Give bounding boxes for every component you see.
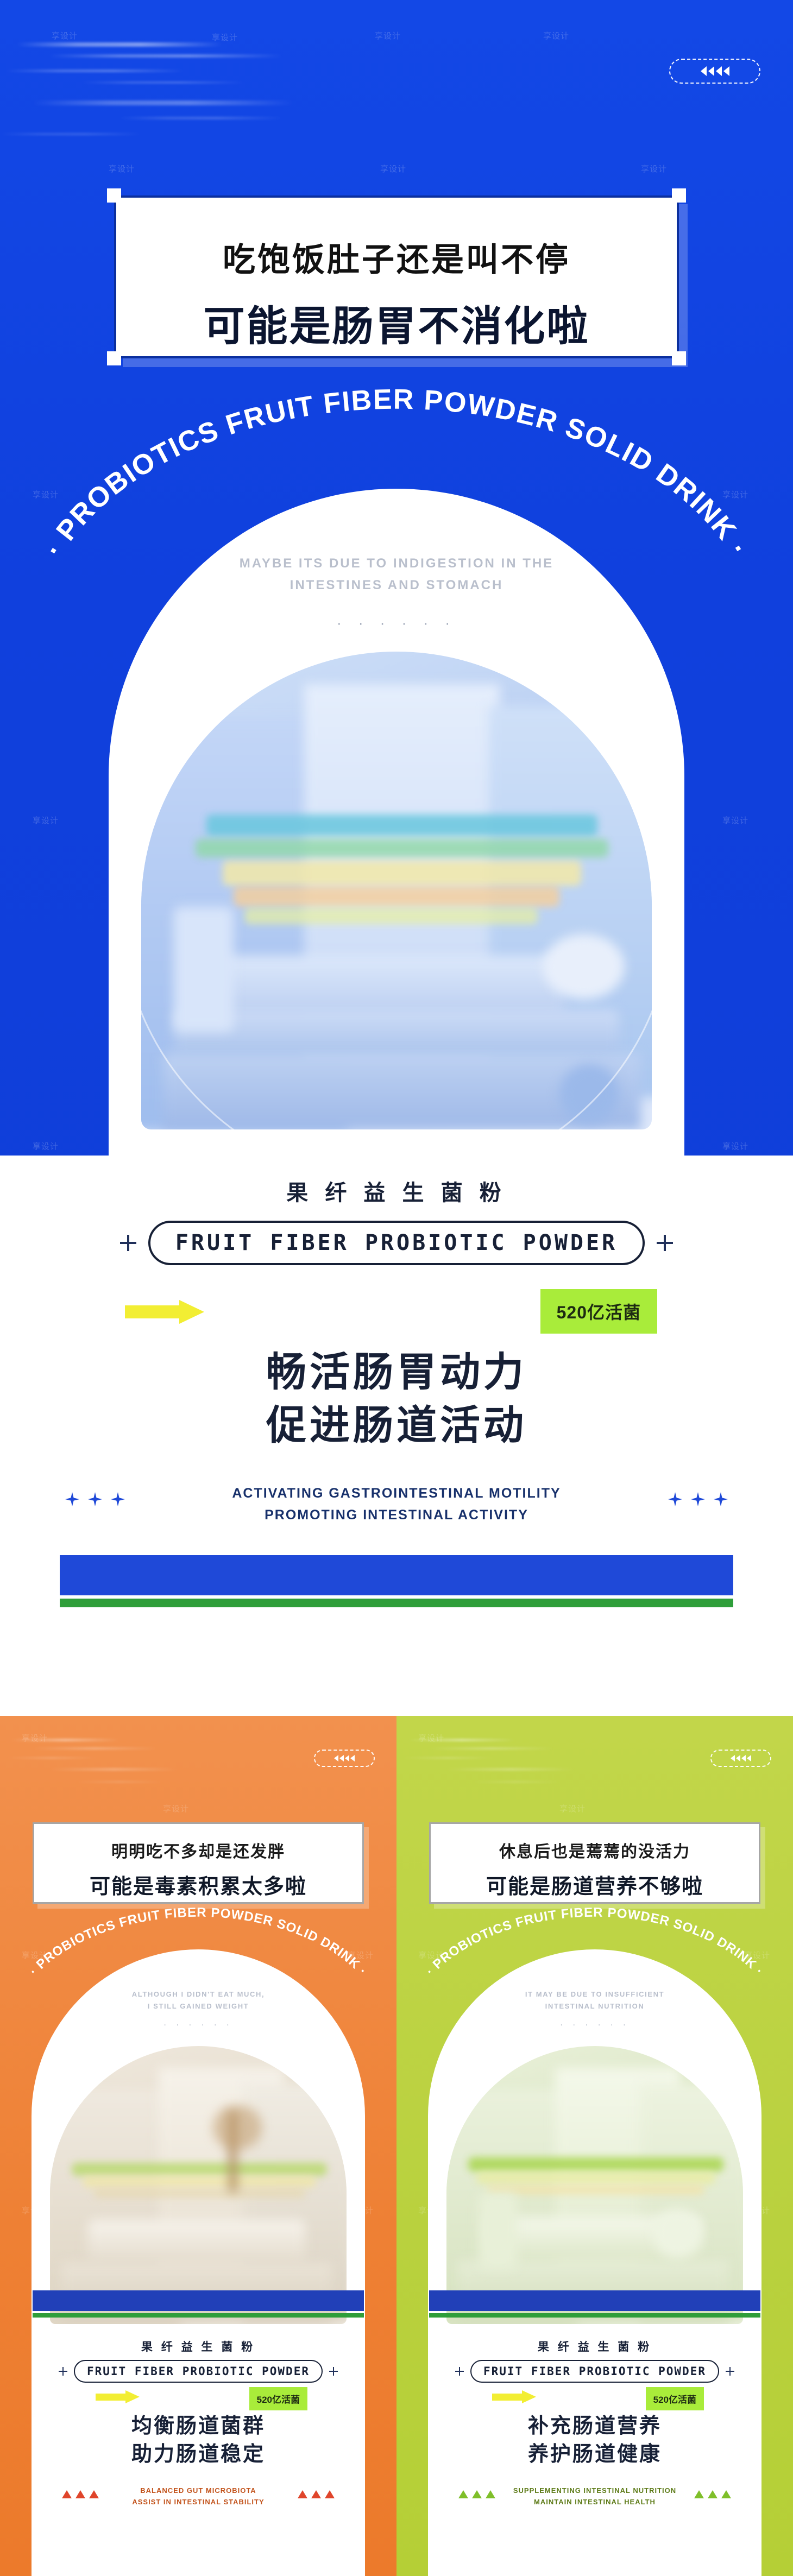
watermark: 享设计 — [418, 1732, 444, 1744]
watermark: 享设计 — [52, 30, 78, 41]
watermark: 享设计 — [375, 30, 401, 41]
english-subtitle: IT MAY BE DUE TO INSUFFICIENT INTESTINAL… — [428, 1988, 761, 2012]
benefit-headline-line-2: 助力肠道稳定 — [131, 2443, 265, 2466]
light-streak — [5, 70, 185, 72]
live-bacteria-badge: 520亿活菌 — [540, 1289, 657, 1334]
white-arch-card: IT MAY BE DUE TO INSUFFICIENT INTESTINAL… — [428, 1949, 761, 2576]
sparkle-icon — [59, 2367, 67, 2376]
benefit-headline: 畅活肠胃动力 促进肠道活动 — [0, 1346, 793, 1452]
english-subtitle-line-1: IT MAY BE DUE TO INSUFFICIENT — [525, 1990, 664, 1998]
watermark: 享设计 — [380, 163, 406, 174]
white-arch-card: ALTHOUGH I DIDN'T EAT MUCH, I STILL GAIN… — [32, 1949, 365, 2576]
light-streak — [445, 1768, 576, 1771]
english-subtitle-line-1: MAYBE ITS DUE TO INDIGESTION IN THE — [240, 556, 553, 571]
light-streak — [0, 133, 141, 135]
headline-line-1: 明明吃不多却是还发胖 — [34, 1838, 362, 1862]
triangles-right — [298, 2490, 335, 2498]
benefit-english-line-1: ACTIVATING GASTROINTESTINAL MOTILITY — [232, 1486, 561, 1501]
headline-line-1: 休息后也是蔫蔫的没活力 — [431, 1838, 759, 1862]
watermark: 享设计 — [641, 163, 667, 174]
footer-bar-green — [60, 1599, 733, 1607]
product-name-en-row: FRUIT FIBER PROBIOTIC POWDER — [0, 1221, 793, 1265]
product-name-en: FRUIT FIBER PROBIOTIC POWDER — [148, 1221, 645, 1265]
triangle-icon — [325, 2490, 335, 2498]
watermark: 享设计 — [163, 1803, 189, 1814]
english-subtitle-line-2: INTESTINAL NUTRITION — [545, 2002, 645, 2010]
benefit-english-line-2: PROMOTING INTESTINAL ACTIVITY — [265, 1507, 528, 1523]
benefit-headline-line-1: 畅活肠胃动力 — [266, 1349, 527, 1394]
watermark: 享设计 — [33, 489, 59, 500]
sparkle-star-icon — [668, 1492, 682, 1506]
arrows-left-icon — [314, 1750, 375, 1767]
product-photo — [50, 2046, 347, 2324]
dots-divider: · · · · · · — [428, 2020, 761, 2029]
benefit-english-line-2: ASSIST IN INTESTINAL STABILITY — [132, 2498, 264, 2506]
headline-box: 休息后也是蔫蔫的没活力 可能是肠道营养不够啦 — [429, 1822, 760, 1904]
arrows-left-icon — [710, 1750, 771, 1767]
product-name-en: FRUIT FIBER PROBIOTIC POWDER — [74, 2360, 323, 2383]
english-subtitle-line-2: I STILL GAINED WEIGHT — [148, 2002, 249, 2010]
triangle-icon — [721, 2490, 731, 2498]
benefit-headline-line-1: 补充肠道营养 — [528, 2415, 662, 2438]
triangles-right — [694, 2490, 731, 2498]
sparkle-star-icon — [691, 1492, 705, 1506]
light-streak — [11, 1739, 119, 1741]
sparkle-star-icon — [714, 1492, 728, 1506]
stars-right — [668, 1492, 728, 1506]
decorative-ring — [119, 630, 674, 1184]
benefit-headline-line-1: 均衡肠道菌群 — [131, 2415, 265, 2438]
panel-secondary-orange: 享设计 享设计 享设计 享设计 享设计 享设计 享设计 明明吃不多却是还发胖 可… — [0, 1716, 396, 2576]
benefit-english-row: SUPPLEMENTING INTESTINAL NUTRITION MAINT… — [428, 2485, 761, 2515]
panel-primary-blue: 享设计 享设计 享设计 享设计 享设计 享设计 享设计 享设计 享设计 享设计 … — [0, 0, 793, 1716]
benefit-english-line-1: SUPPLEMENTING INTESTINAL NUTRITION — [513, 2486, 676, 2495]
accent-row: 520亿活菌 — [0, 1284, 793, 1343]
triangle-icon — [708, 2490, 718, 2498]
box-corner — [672, 188, 686, 203]
panel1-product-info: 果 纤 益 生 菌 粉 FRUIT FIBER PROBIOTIC POWDER… — [0, 1156, 793, 1716]
headline-box: 吃饱饭肚子还是叫不停 可能是肠胃不消化啦 — [114, 195, 679, 358]
arrow-right-icon — [492, 2390, 538, 2403]
live-bacteria-badge: 520亿活菌 — [249, 2387, 307, 2410]
live-bacteria-badge: 520亿活菌 — [646, 2387, 704, 2410]
benefit-english-line-1: BALANCED GUT MICROBIOTA — [140, 2486, 256, 2495]
arrows-left-icon — [669, 59, 760, 84]
footer-bar-blue — [60, 1555, 733, 1595]
sparkle-icon — [329, 2367, 338, 2376]
light-streak — [119, 117, 282, 119]
watermark: 享设计 — [543, 30, 569, 41]
light-streak — [49, 54, 282, 58]
headline-box: 明明吃不多却是还发胖 可能是毒素积累太多啦 — [33, 1822, 364, 1904]
light-streak — [407, 1739, 516, 1741]
sparkle-icon — [455, 2367, 464, 2376]
product-name-en-row: FRUIT FIBER PROBIOTIC POWDER — [32, 2360, 365, 2383]
headline-line-2: 可能是毒素积累太多啦 — [34, 1870, 362, 1899]
watermark: 享设计 — [22, 1732, 48, 1744]
watermark: 享设计 — [722, 489, 748, 500]
box-corner — [107, 351, 121, 365]
footer-bar-blue — [429, 2290, 760, 2311]
watermark: 享设计 — [722, 1140, 748, 1152]
box-corner — [672, 351, 686, 365]
triangle-icon — [694, 2490, 704, 2498]
product-name-en: FRUIT FIBER PROBIOTIC POWDER — [470, 2360, 719, 2383]
benefit-headline-line-2: 养护肠道健康 — [528, 2443, 662, 2466]
headline-line-2: 可能是肠道营养不够啦 — [431, 1870, 759, 1899]
watermark: 享设计 — [722, 815, 748, 826]
watermark: 享设计 — [33, 1140, 59, 1152]
arrow-right-icon — [96, 2390, 141, 2403]
arrow-right-icon — [125, 1300, 206, 1324]
light-streak — [33, 100, 293, 105]
sparkle-icon — [657, 1235, 673, 1251]
watermark: 享设计 — [559, 1803, 586, 1814]
english-subtitle: MAYBE ITS DUE TO INDIGESTION IN THE INTE… — [109, 553, 684, 596]
benefit-english-row: ACTIVATING GASTROINTESTINAL MOTILITY PRO… — [0, 1482, 793, 1535]
sparkle-icon — [726, 2367, 734, 2376]
light-streak — [76, 1781, 163, 1783]
english-subtitle-line-1: ALTHOUGH I DIDN'T EAT MUCH, — [132, 1990, 265, 1998]
triangle-icon — [298, 2490, 307, 2498]
light-streak — [33, 1747, 158, 1750]
footer-bar-green — [33, 2313, 364, 2318]
triangle-icon — [311, 2490, 321, 2498]
product-name-en-row: FRUIT FIBER PROBIOTIC POWDER — [428, 2360, 761, 2383]
product-name-cn: 果 纤 益 生 菌 粉 — [0, 1175, 793, 1207]
benefit-english-line-2: MAINTAIN INTESTINAL HEALTH — [534, 2498, 656, 2506]
english-subtitle-line-2: INTESTINES AND STOMACH — [290, 578, 504, 592]
light-streak — [16, 42, 223, 47]
light-streak — [5, 1757, 98, 1759]
product-photo — [446, 2046, 743, 2324]
footer-bars — [33, 2290, 364, 2318]
english-subtitle: ALTHOUGH I DIDN'T EAT MUCH, I STILL GAIN… — [32, 1988, 365, 2012]
headline-line-1: 吃饱饭肚子还是叫不停 — [116, 233, 677, 281]
light-streak — [429, 1747, 554, 1750]
dots-divider: · · · · · · — [109, 615, 684, 632]
footer-bar-green — [429, 2313, 760, 2318]
watermark: 享设计 — [33, 815, 59, 826]
light-streak — [49, 1768, 179, 1771]
box-corner — [107, 188, 121, 203]
headline-line-2: 可能是肠胃不消化啦 — [116, 293, 677, 352]
dots-divider: · · · · · · — [32, 2020, 365, 2029]
benefit-headline: 补充肠道营养 养护肠道健康 — [428, 2412, 761, 2468]
light-streak — [81, 81, 244, 84]
benefit-headline-line-2: 促进肠道活动 — [266, 1403, 527, 1448]
footer-bar-blue — [33, 2290, 364, 2311]
watermark: 享设计 — [109, 163, 135, 174]
product-name-cn: 果 纤 益 生 菌 粉 — [428, 2338, 761, 2354]
watermark: 享设计 — [212, 31, 238, 43]
benefit-headline: 均衡肠道菌群 助力肠道稳定 — [32, 2412, 365, 2468]
poster-page: 享设计 享设计 享设计 享设计 享设计 享设计 享设计 享设计 享设计 享设计 … — [0, 0, 793, 2576]
product-name-cn: 果 纤 益 生 菌 粉 — [32, 2338, 365, 2354]
footer-bars — [429, 2290, 760, 2318]
benefit-english-row: BALANCED GUT MICROBIOTA ASSIST IN INTEST… — [32, 2485, 365, 2515]
light-streak — [402, 1757, 494, 1759]
panel-secondary-green: 享设计 享设计 享设计 享设计 享设计 享设计 享设计 休息后也是蔫蔫的没活力 … — [396, 1716, 793, 2576]
footer-bars — [60, 1555, 733, 1618]
panels-secondary-row: 享设计 享设计 享设计 享设计 享设计 享设计 享设计 明明吃不多却是还发胖 可… — [0, 1716, 793, 2576]
sparkle-icon — [120, 1235, 136, 1251]
light-streak — [473, 1781, 559, 1783]
